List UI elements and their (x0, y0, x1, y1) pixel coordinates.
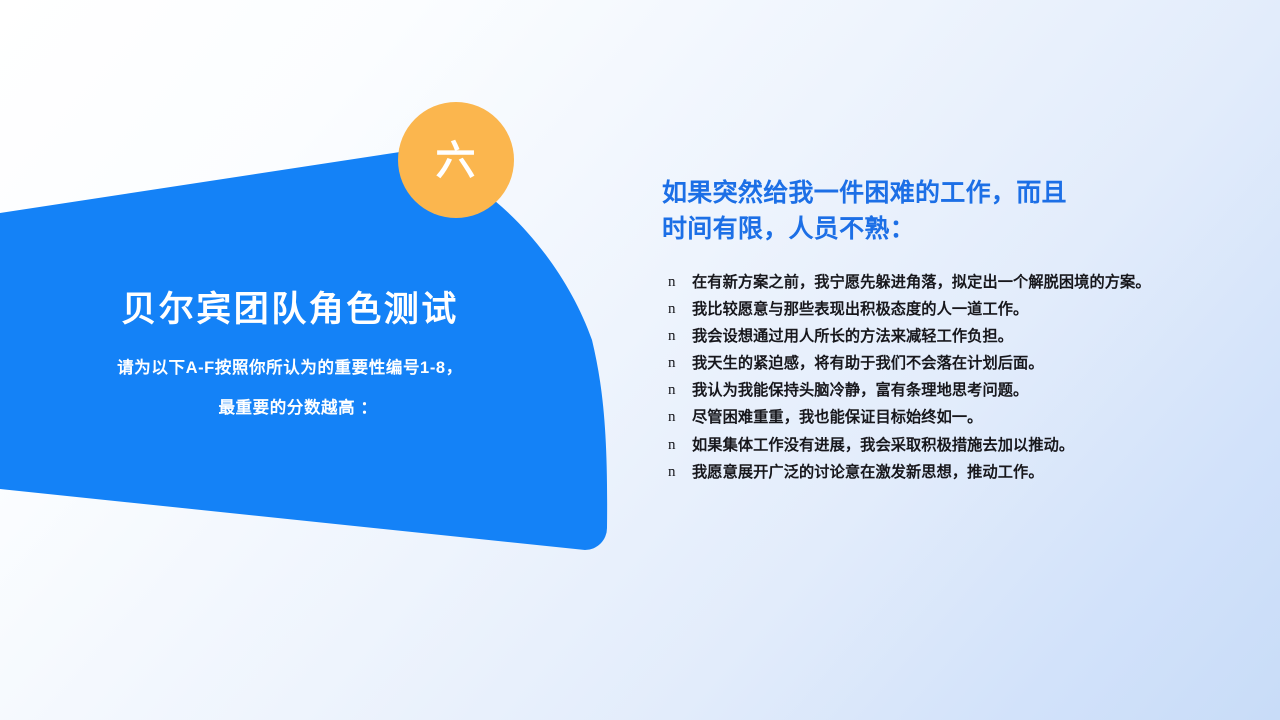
list-item-label: 我愿意展开广泛的讨论意在激发新思想，推动工作。 (692, 461, 1222, 484)
list-item-label: 我比较愿意与那些表现出积极态度的人一道工作。 (692, 298, 1222, 321)
list-item: n 我比较愿意与那些表现出积极态度的人一道工作。 (662, 298, 1222, 321)
list-item-label: 我认为我能保持头脑冷静，富有条理地思考问题。 (692, 379, 1222, 402)
square-bullet-icon: n (662, 406, 692, 429)
page-subtitle: 请为以下A-F按照你所认为的重要性编号1-8， 最重要的分数越高 ： (0, 348, 580, 429)
square-bullet-icon: n (662, 352, 692, 375)
question-heading: 如果突然给我一件困难的工作，而且 时间有限，人员不熟： (662, 176, 1222, 247)
list-item: n 我认为我能保持头脑冷静，富有条理地思考问题。 (662, 379, 1222, 402)
square-bullet-icon: n (662, 325, 692, 348)
list-item-label: 尽管困难重重，我也能保证目标始终如一。 (692, 406, 1222, 429)
list-item: n 我天生的紧迫感，将有助于我们不会落在计划后面。 (662, 352, 1222, 375)
list-item-label: 在有新方案之前，我宁愿先躲进角落，拟定出一个解脱困境的方案。 (692, 271, 1222, 294)
list-item: n 我会设想通过用人所长的方法来减轻工作负担。 (662, 325, 1222, 348)
square-bullet-icon: n (662, 379, 692, 402)
list-item-label: 我天生的紧迫感，将有助于我们不会落在计划后面。 (692, 352, 1222, 375)
answer-option-list: n 在有新方案之前，我宁愿先躲进角落，拟定出一个解脱困境的方案。 n 我比较愿意… (662, 271, 1222, 484)
page-subtitle-line-2: 最重要的分数越高 ： (0, 388, 580, 428)
page-subtitle-line-1: 请为以下A-F按照你所认为的重要性编号1-8， (0, 348, 580, 388)
question-heading-line-1: 如果突然给我一件困难的工作，而且 (662, 176, 1222, 212)
square-bullet-icon: n (662, 271, 692, 294)
section-number-badge: 六 (398, 102, 514, 218)
list-item: n 我愿意展开广泛的讨论意在激发新思想，推动工作。 (662, 461, 1222, 484)
list-item: n 在有新方案之前，我宁愿先躲进角落，拟定出一个解脱困境的方案。 (662, 271, 1222, 294)
banner-text-block: 贝尔宾团队角色测试 请为以下A-F按照你所认为的重要性编号1-8， 最重要的分数… (0, 288, 580, 429)
slide-canvas: 六 贝尔宾团队角色测试 请为以下A-F按照你所认为的重要性编号1-8， 最重要的… (0, 0, 1280, 720)
square-bullet-icon: n (662, 461, 692, 484)
content-panel: 如果突然给我一件困难的工作，而且 时间有限，人员不熟： n 在有新方案之前，我宁… (662, 176, 1222, 488)
list-item: n 如果集体工作没有进展，我会采取积极措施去加以推动。 (662, 434, 1222, 457)
page-title: 贝尔宾团队角色测试 (0, 288, 580, 332)
list-item-label: 如果集体工作没有进展，我会采取积极措施去加以推动。 (692, 434, 1222, 457)
square-bullet-icon: n (662, 298, 692, 321)
section-number-label: 六 (436, 141, 477, 181)
square-bullet-icon: n (662, 434, 692, 457)
list-item-label: 我会设想通过用人所长的方法来减轻工作负担。 (692, 325, 1222, 348)
list-item: n 尽管困难重重，我也能保证目标始终如一。 (662, 406, 1222, 429)
question-heading-line-2: 时间有限，人员不熟： (662, 212, 1222, 248)
